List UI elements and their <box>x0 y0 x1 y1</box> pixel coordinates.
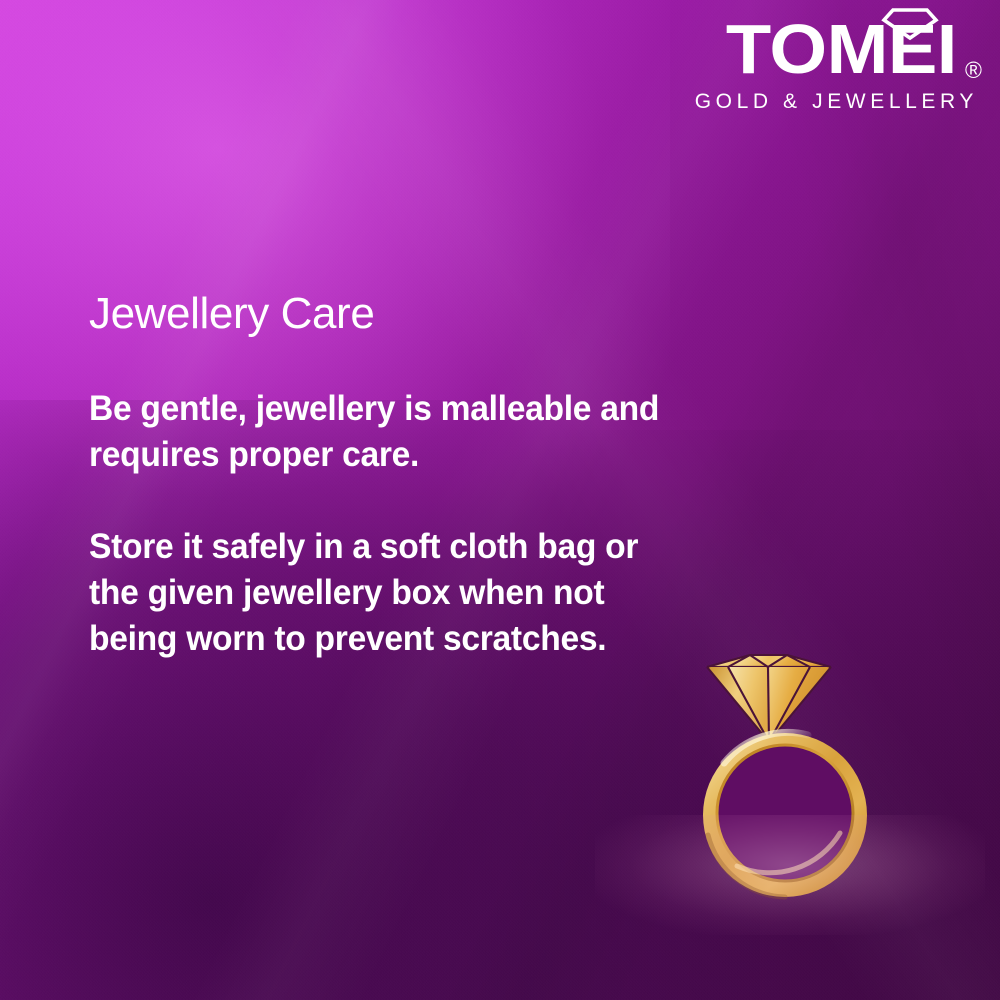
ring-svg <box>690 645 880 905</box>
care-paragraph-1: Be gentle, jewellery is malleable and re… <box>89 386 665 478</box>
registered-trademark-icon: ® <box>965 59 982 82</box>
logo-wordmark-row: TOMEI ® <box>652 8 982 86</box>
care-copy-block: Jewellery Care Be gentle, jewellery is m… <box>89 288 689 662</box>
care-paragraph-2: Store it safely in a soft cloth bag or t… <box>89 524 665 662</box>
logo-tagline: GOLD & JEWELLERY <box>652 90 982 114</box>
gold-ring-band-icon <box>703 732 867 897</box>
diamond-gem-icon <box>707 655 831 742</box>
jewellery-care-poster: TOMEI ® GOLD & JEWELLERY Jewellery Care … <box>0 0 1000 1000</box>
diamond-ring-illustration <box>690 645 880 905</box>
page-title: Jewellery Care <box>89 288 689 340</box>
tomei-logo: TOMEI ® GOLD & JEWELLERY <box>652 8 982 114</box>
logo-wordmark-text: TOMEI <box>726 12 957 86</box>
